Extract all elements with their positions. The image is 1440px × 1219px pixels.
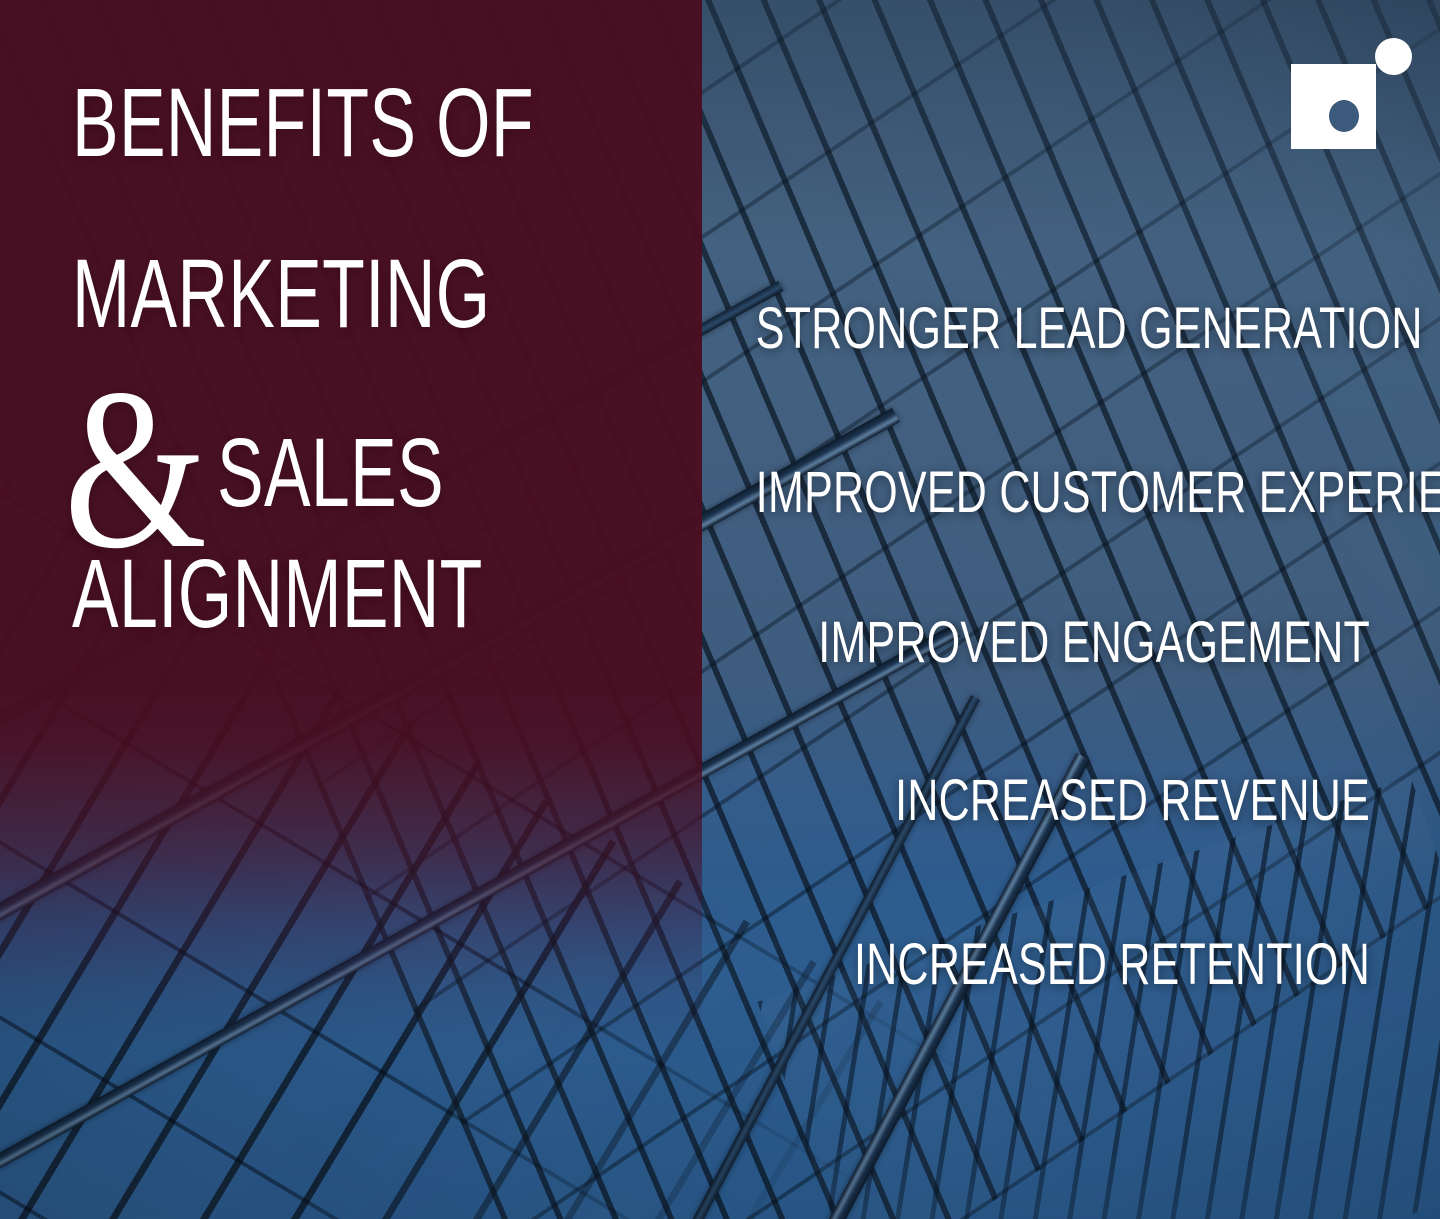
logo-dot-icon <box>1375 38 1412 75</box>
headline-line-2: MARKETING <box>72 247 511 340</box>
headline-line-3: SALES <box>217 426 444 519</box>
benefit-item-5: INCREASED RETENTION <box>756 936 1370 994</box>
benefit-item-3: IMPROVED ENGAGEMENT <box>756 614 1370 672</box>
ampersand-glyph: & <box>64 398 208 541</box>
benefit-item-1: STRONGER LEAD GENERATION <box>756 300 1370 358</box>
headline-line-1: BENEFITS OF <box>72 76 511 169</box>
logo-circle-cutout-icon <box>1329 100 1359 132</box>
brand-logo <box>1291 38 1421 152</box>
benefit-item-4: INCREASED REVENUE <box>756 772 1370 830</box>
benefits-list: STRONGER LEAD GENERATION IMPROVED CUSTOM… <box>540 300 1370 994</box>
benefit-item-2: IMPROVED CUSTOMER EXPERIENCE <box>756 464 1370 522</box>
headline-line-4: ALIGNMENT <box>72 547 511 640</box>
poster-canvas: BENEFITS OF MARKETING & SALES ALIGNMENT … <box>0 0 1440 1219</box>
